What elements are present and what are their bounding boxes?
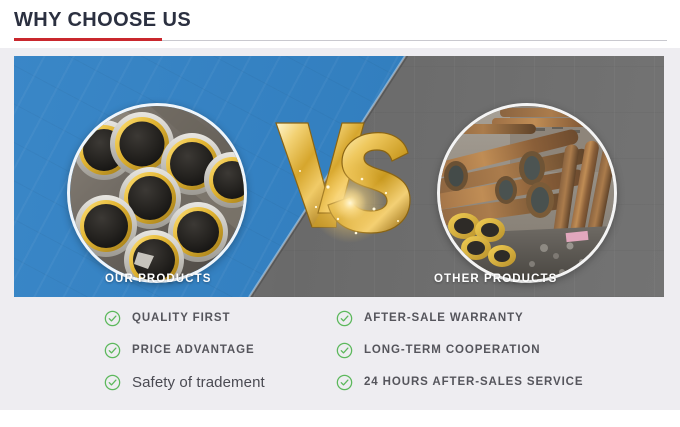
feature-column-right: AFTER-SALE WARRANTY LONG-TERM COOPERATIO…	[336, 305, 583, 401]
page-title: WHY CHOOSE US	[14, 9, 191, 32]
feature-label: PRICE ADVANTAGE	[132, 344, 255, 356]
our-products-caption: OUR PRODUCTS	[105, 273, 211, 285]
new-steel-pipes-photo-graphic	[70, 106, 244, 280]
feature-item: Safety of tradement	[104, 369, 265, 395]
versus-badge	[266, 101, 426, 271]
check-circle-icon	[336, 374, 353, 391]
rusty-steel-pipes-photo-graphic	[440, 106, 614, 280]
feature-item: 24 HOURS AFTER-SALES SERVICE	[336, 369, 583, 395]
feature-label: AFTER-SALE WARRANTY	[364, 312, 524, 324]
feature-list: QUALITY FIRST PRICE ADVANTAGE Safety of …	[14, 305, 664, 400]
check-circle-icon	[104, 310, 121, 327]
check-circle-icon	[104, 374, 121, 391]
our-products-photo	[67, 103, 247, 283]
feature-label: QUALITY FIRST	[132, 312, 230, 324]
feature-label: LONG-TERM COOPERATION	[364, 344, 541, 356]
feature-item: PRICE ADVANTAGE	[104, 337, 265, 363]
versus-badge-graphic	[266, 101, 426, 271]
comparison-panel: OUR PRODUCTS OTHER PRODUCTS	[14, 56, 664, 297]
other-products-caption: OTHER PRODUCTS	[434, 273, 557, 285]
header-accent-underline	[14, 38, 162, 41]
footer-spacer	[0, 410, 680, 427]
feature-column-left: QUALITY FIRST PRICE ADVANTAGE Safety of …	[104, 305, 265, 401]
feature-label: 24 HOURS AFTER-SALES SERVICE	[364, 376, 583, 388]
check-circle-icon	[336, 310, 353, 327]
page-header: WHY CHOOSE US	[0, 0, 680, 48]
check-circle-icon	[104, 342, 121, 359]
check-circle-icon	[336, 342, 353, 359]
feature-label: Safety of tradement	[132, 374, 265, 391]
feature-item: QUALITY FIRST	[104, 305, 265, 331]
feature-item: AFTER-SALE WARRANTY	[336, 305, 583, 331]
feature-item: LONG-TERM COOPERATION	[336, 337, 583, 363]
other-products-photo	[437, 103, 617, 283]
